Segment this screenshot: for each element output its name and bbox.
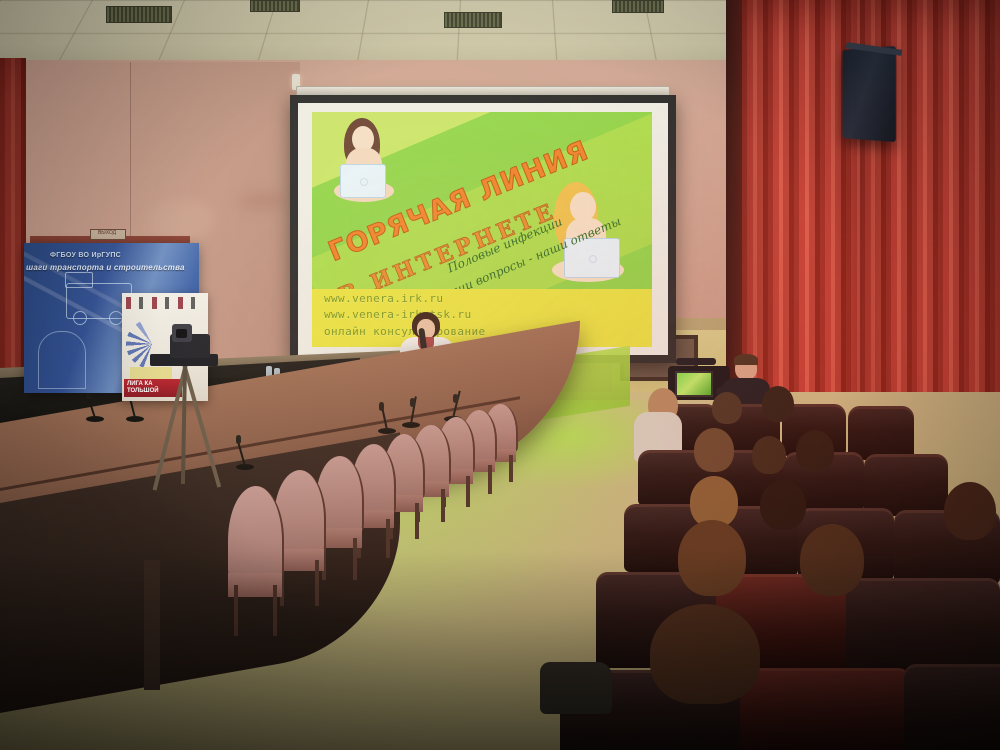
wheel	[109, 311, 123, 325]
chair-leg	[466, 476, 470, 507]
audience-head	[944, 482, 996, 540]
chair-leg	[488, 465, 492, 494]
operator-hair	[734, 354, 758, 365]
audience-head	[762, 386, 794, 422]
mic-capsule	[379, 402, 384, 411]
lecture-hall-photo: ВЫХОД ГОРЯЧАЯ ЛИНИЯ	[0, 0, 1000, 750]
chair-leg	[441, 489, 445, 522]
mic-capsule	[410, 398, 415, 407]
desk-microphone-5[interactable]	[402, 396, 420, 428]
audience-head	[694, 428, 734, 472]
ceiling-vent-1	[106, 6, 172, 23]
camera-monitor-screen	[675, 371, 713, 397]
chair-leg	[234, 585, 238, 636]
laptop	[340, 164, 386, 198]
sponsor-logo-strip	[126, 297, 204, 309]
audience-head	[760, 480, 806, 530]
audience-head	[678, 520, 746, 596]
chair-leg	[315, 560, 319, 606]
audience-head	[796, 430, 834, 472]
audience-head	[712, 392, 742, 424]
audience-head	[752, 436, 786, 474]
wall-stain-2	[150, 200, 216, 240]
chair-leg	[273, 585, 277, 636]
chair-leg	[386, 519, 390, 558]
slide-url-primary[interactable]: www.venera.irk.ru	[324, 292, 443, 305]
audience-seat-front[interactable]	[904, 664, 1000, 750]
bag-on-floor[interactable]	[540, 662, 612, 714]
banner-subtitle: шаги транспорта и строительства	[26, 263, 185, 272]
ceiling-vent-3	[612, 0, 664, 13]
audience-seat-front[interactable]	[740, 668, 910, 750]
illustration-girl-brunette	[326, 118, 402, 214]
banner-title: ФГБОУ ВО ИрГУПС	[50, 252, 121, 259]
desk-microphone-1[interactable]	[86, 388, 104, 422]
tripod-leg	[181, 364, 187, 484]
chair-leg	[353, 538, 357, 580]
audience-seat[interactable]	[848, 406, 914, 460]
wall-speaker	[842, 46, 895, 142]
audience-seat[interactable]	[864, 454, 948, 516]
camera-handle	[676, 358, 716, 365]
chair-leg	[509, 455, 513, 482]
tripod-leg	[182, 363, 221, 487]
wall-stain	[238, 192, 286, 210]
table-chair[interactable]	[228, 486, 282, 636]
building-illustration	[38, 331, 86, 389]
ceiling-vent-2	[444, 12, 502, 28]
camera-tripod[interactable]	[148, 330, 248, 490]
desk-microphone-4[interactable]	[378, 400, 396, 434]
mic-capsule	[453, 394, 458, 403]
camera-lens	[172, 324, 192, 342]
presentation-slide: ГОРЯЧАЯ ЛИНИЯ В ИНТЕРНЕТЕ Половые инфекц…	[312, 112, 652, 347]
audience-head-front	[650, 604, 760, 704]
exit-sign-label: ВЫХОД	[91, 229, 123, 238]
conference-table-leg	[144, 560, 160, 690]
wheel	[73, 311, 87, 325]
chair-leg	[415, 503, 419, 539]
chair-back	[228, 486, 284, 579]
ceiling-vent-4	[250, 0, 300, 12]
audience-head	[800, 524, 864, 596]
